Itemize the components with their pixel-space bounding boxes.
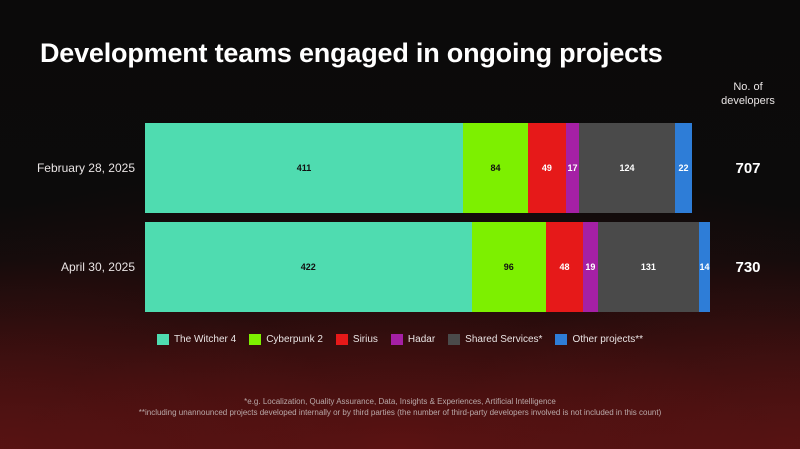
- footnote-1: *e.g. Localization, Quality Assurance, D…: [0, 396, 800, 407]
- legend-swatch-icon: [391, 334, 403, 345]
- legend-item[interactable]: Cyberpunk 2: [249, 334, 323, 345]
- legend-swatch-icon: [249, 334, 261, 345]
- slide-root: Development teams engaged in ongoing pro…: [0, 0, 800, 449]
- chart-legend: The Witcher 4Cyberpunk 2SiriusHadarShare…: [0, 334, 800, 345]
- legend-swatch-icon: [555, 334, 567, 345]
- legend-swatch-icon: [157, 334, 169, 345]
- legend-label: Shared Services*: [465, 334, 542, 345]
- row-category-label: February 28, 2025: [37, 123, 135, 213]
- bar-segment[interactable]: 49: [528, 123, 566, 213]
- legend-item[interactable]: Sirius: [336, 334, 378, 345]
- bar-segment[interactable]: 17: [566, 123, 579, 213]
- legend-label: Sirius: [353, 334, 378, 345]
- legend-label: The Witcher 4: [174, 334, 236, 345]
- legend-item[interactable]: Hadar: [391, 334, 435, 345]
- legend-swatch-icon: [336, 334, 348, 345]
- footnotes: *e.g. Localization, Quality Assurance, D…: [0, 396, 800, 418]
- bar-segment[interactable]: 48: [546, 222, 583, 312]
- legend-item[interactable]: Shared Services*: [448, 334, 542, 345]
- legend-label: Other projects**: [572, 334, 643, 345]
- chart-row: April 30, 202542296481913114730: [0, 222, 800, 312]
- total-column-header: No. of developers: [700, 80, 796, 108]
- total-column-header-line1: No. of: [700, 80, 796, 94]
- row-total-value: 707: [700, 123, 796, 213]
- legend-label: Cyberpunk 2: [266, 334, 323, 345]
- bar-segment[interactable]: 131: [598, 222, 699, 312]
- legend-item[interactable]: The Witcher 4: [157, 334, 236, 345]
- bar-segment[interactable]: 422: [145, 222, 472, 312]
- row-category-label: April 30, 2025: [61, 222, 135, 312]
- legend-item[interactable]: Other projects**: [555, 334, 643, 345]
- page-title: Development teams engaged in ongoing pro…: [40, 38, 663, 69]
- bar-segment[interactable]: 22: [675, 123, 692, 213]
- row-total-value: 730: [700, 222, 796, 312]
- bar-segment[interactable]: 124: [579, 123, 675, 213]
- bar-segment[interactable]: 411: [145, 123, 463, 213]
- legend-swatch-icon: [448, 334, 460, 345]
- bar-segment[interactable]: 19: [583, 222, 598, 312]
- legend-label: Hadar: [408, 334, 435, 345]
- stacked-bar[interactable]: 42296481913114: [145, 222, 710, 312]
- bar-segment[interactable]: 96: [472, 222, 546, 312]
- bar-segment[interactable]: 84: [463, 123, 528, 213]
- stacked-bar[interactable]: 41184491712422: [145, 123, 692, 213]
- chart-row: February 28, 202541184491712422707: [0, 123, 800, 213]
- total-column-header-line2: developers: [700, 94, 796, 108]
- footnote-2: **including unannounced projects develop…: [0, 407, 800, 418]
